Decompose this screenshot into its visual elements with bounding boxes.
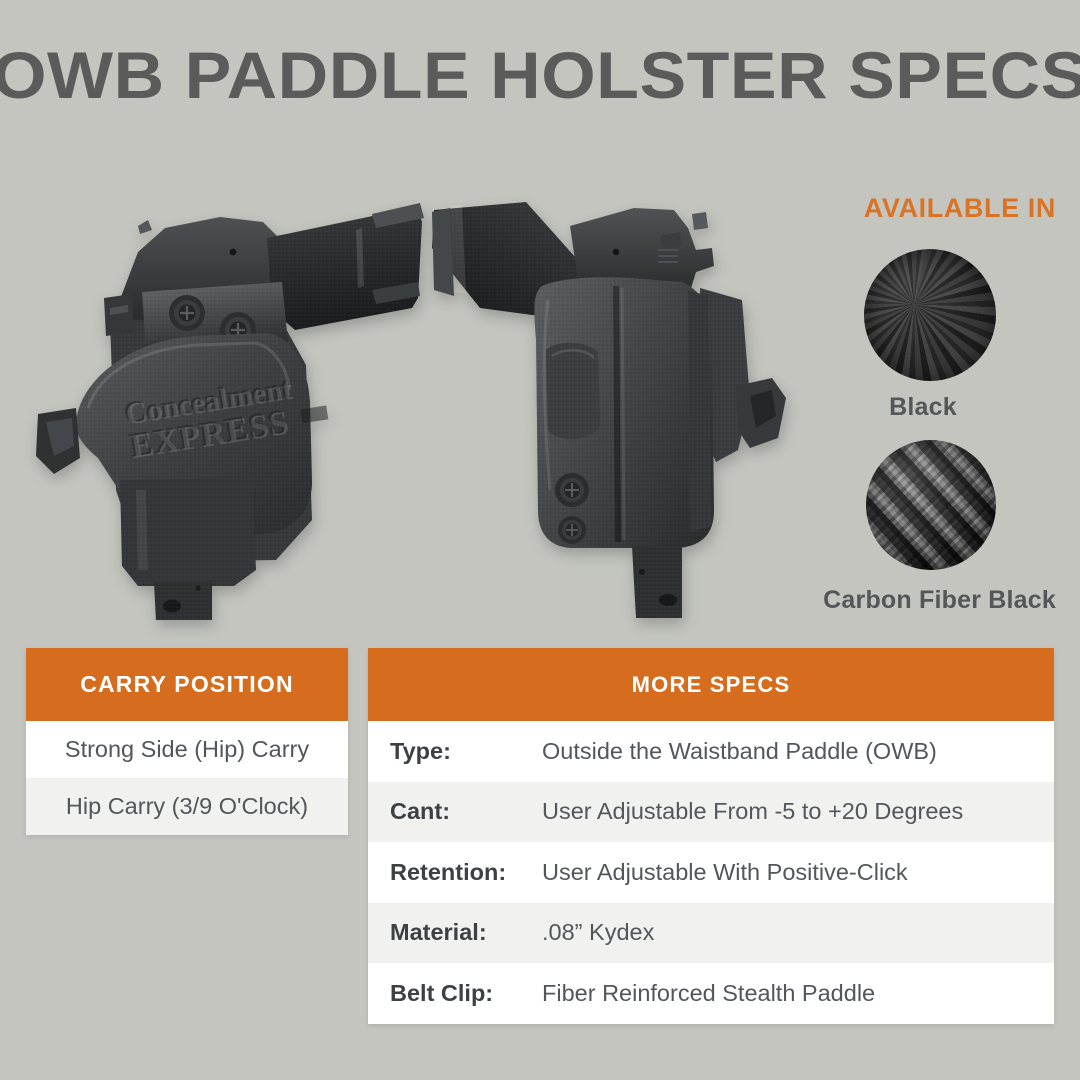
available-in-heading: AVAILABLE IN <box>760 193 1056 224</box>
infographic-page: OWB PADDLE HOLSTER SPECS <box>0 0 1080 1080</box>
carbon-fiber-swatch-icon[interactable] <box>866 440 996 570</box>
holster-image-body-side <box>420 190 820 620</box>
swatch-label-black: Black <box>790 393 1056 422</box>
carry-position-value: Strong Side (Hip) Carry <box>65 736 309 763</box>
table-row: Material: .08” Kydex <box>368 903 1054 964</box>
carry-position-table: CARRY POSITION Strong Side (Hip) Carry H… <box>26 648 348 835</box>
product-image-group: Concealment EXPRESS Concealment EXPRESS <box>20 190 840 620</box>
more-specs-table: MORE SPECS Type: Outside the Waistband P… <box>368 648 1054 1024</box>
spec-label-type: Type: <box>390 738 542 765</box>
table-row: Retention: User Adjustable With Positive… <box>368 842 1054 903</box>
table-row: Type: Outside the Waistband Paddle (OWB) <box>368 721 1054 782</box>
holster-image-paddle-side: Concealment EXPRESS Concealment EXPRESS <box>20 190 440 620</box>
table-row: Hip Carry (3/9 O'Clock) <box>26 778 348 835</box>
carry-position-table-header: CARRY POSITION <box>26 648 348 721</box>
spec-value-retention: User Adjustable With Positive-Click <box>542 859 908 886</box>
black-texture-swatch-icon[interactable] <box>864 249 996 381</box>
swatch-label-carbon-fiber-black: Carbon Fiber Black <box>740 586 1056 615</box>
spec-value-type: Outside the Waistband Paddle (OWB) <box>542 738 937 765</box>
spec-label-belt-clip: Belt Clip: <box>390 980 542 1007</box>
page-title: OWB PADDLE HOLSTER SPECS <box>0 42 1080 109</box>
spec-label-material: Material: <box>390 919 542 946</box>
spec-value-belt-clip: Fiber Reinforced Stealth Paddle <box>542 980 875 1007</box>
table-row: Cant: User Adjustable From -5 to +20 Deg… <box>368 782 1054 843</box>
spec-label-retention: Retention: <box>390 859 542 886</box>
spec-label-cant: Cant: <box>390 798 542 825</box>
spec-value-material: .08” Kydex <box>542 919 654 946</box>
spec-value-cant: User Adjustable From -5 to +20 Degrees <box>542 798 963 825</box>
table-row: Strong Side (Hip) Carry <box>26 721 348 778</box>
carry-position-value: Hip Carry (3/9 O'Clock) <box>66 793 308 820</box>
table-row: Belt Clip: Fiber Reinforced Stealth Padd… <box>368 963 1054 1024</box>
more-specs-table-header: MORE SPECS <box>368 648 1054 721</box>
